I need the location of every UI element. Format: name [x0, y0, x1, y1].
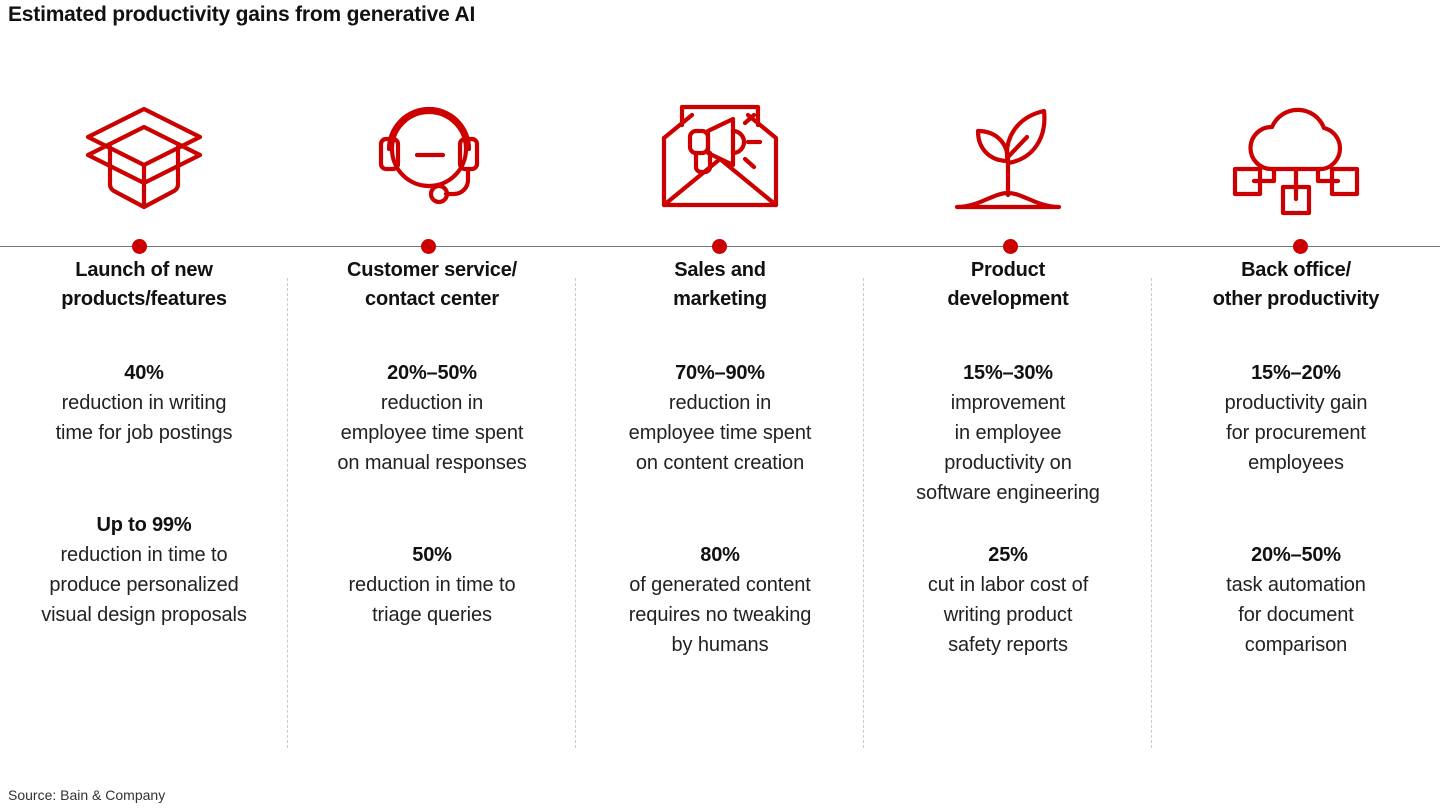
stat-value: 15%–30%: [872, 358, 1144, 388]
stat-description: productivity gain for procurement employ…: [1160, 388, 1432, 478]
column-header: Sales and marketing: [584, 256, 856, 314]
column-launch-of-new-products: Launch of new products/features 40% redu…: [0, 72, 288, 660]
stat-block: 15%–20% productivity gain for procuremen…: [1160, 314, 1432, 478]
stat-block: 20%–50% task automation for document com…: [1160, 478, 1432, 660]
stat-value: 20%–50%: [1160, 540, 1432, 570]
column-back-office: Back office/ other productivity 15%–20% …: [1152, 72, 1440, 660]
stat-block: 20%–50% reduction in employee time spent…: [296, 314, 568, 478]
stat-description: of generated content requires no tweakin…: [584, 570, 856, 660]
column-header: Product development: [872, 256, 1144, 314]
column-header: Launch of new products/features: [8, 256, 280, 314]
stat-description: reduction in time to produce personalize…: [8, 540, 280, 630]
stat-description: reduction in employee time spent on manu…: [296, 388, 568, 478]
infographic-page: Estimated productivity gains from genera…: [0, 0, 1440, 810]
stat-block: 25% cut in labor cost of writing product…: [872, 508, 1144, 660]
sprout-icon: [872, 72, 1144, 232]
stat-description: reduction in employee time spent on cont…: [584, 388, 856, 478]
stat-description: improvement in employee productivity on …: [872, 388, 1144, 508]
column-product-development: Product development 15%–30% improvement …: [864, 72, 1152, 660]
open-box-icon: [8, 72, 280, 232]
stat-block: 15%–30% improvement in employee producti…: [872, 314, 1144, 508]
stat-value: Up to 99%: [8, 510, 280, 540]
stat-block: 50% reduction in time to triage queries: [296, 478, 568, 630]
source-note: Source: Bain & Company: [8, 787, 165, 803]
stat-value: 40%: [8, 358, 280, 388]
stat-value: 20%–50%: [296, 358, 568, 388]
stat-value: 50%: [296, 540, 568, 570]
stat-block: 40% reduction in writing time for job po…: [8, 314, 280, 448]
envelope-megaphone-icon: [584, 72, 856, 232]
stat-block: 70%–90% reduction in employee time spent…: [584, 314, 856, 478]
stat-block: Up to 99% reduction in time to produce p…: [8, 448, 280, 630]
page-title: Estimated productivity gains from genera…: [8, 3, 475, 27]
stat-block: 80% of generated content requires no twe…: [584, 478, 856, 660]
column-sales-and-marketing: Sales and marketing 70%–90% reduction in…: [576, 72, 864, 660]
stat-value: 15%–20%: [1160, 358, 1432, 388]
cloud-network-icon: [1160, 72, 1432, 232]
stat-description: cut in labor cost of writing product saf…: [872, 570, 1144, 660]
stat-description: reduction in time to triage queries: [296, 570, 568, 630]
column-header: Back office/ other productivity: [1160, 256, 1432, 314]
column-header: Customer service/ contact center: [296, 256, 568, 314]
stat-value: 80%: [584, 540, 856, 570]
stat-value: 25%: [872, 540, 1144, 570]
stat-description: task automation for document comparison: [1160, 570, 1432, 660]
headset-icon: [296, 72, 568, 232]
stat-value: 70%–90%: [584, 358, 856, 388]
column-customer-service: Customer service/ contact center 20%–50%…: [288, 72, 576, 660]
columns-grid: Launch of new products/features 40% redu…: [0, 72, 1440, 660]
stat-description: reduction in writing time for job postin…: [8, 388, 280, 448]
